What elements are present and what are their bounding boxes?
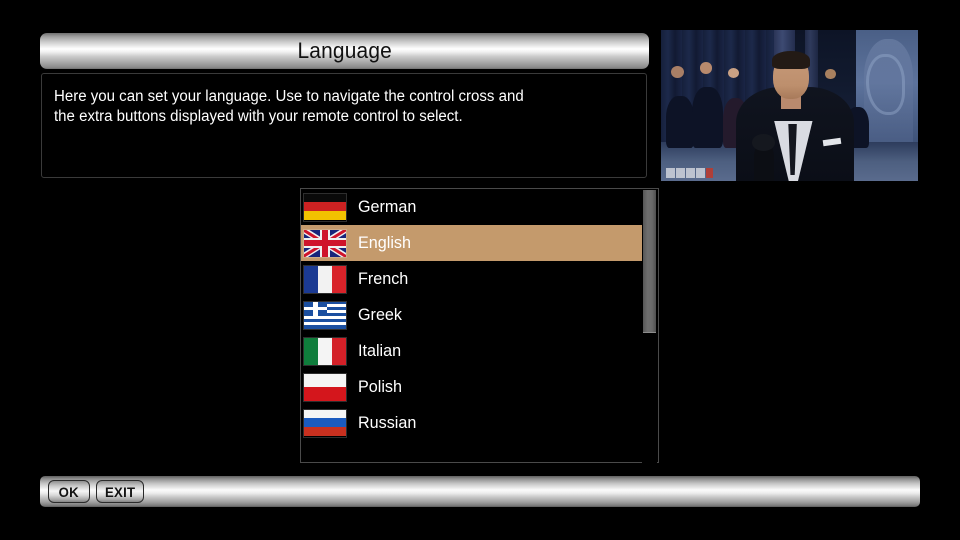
list-item-label: French — [358, 269, 408, 289]
list-item[interactable]: English — [301, 225, 643, 261]
scrollbar-thumb[interactable] — [643, 190, 656, 333]
list-item-label: Russian — [358, 413, 416, 433]
channel-logo-watermark — [666, 168, 713, 179]
flag-greece-icon — [304, 302, 346, 329]
flag-russia-icon — [304, 410, 346, 437]
softkey-bar: OK EXIT — [40, 476, 920, 507]
list-item[interactable]: Polish — [301, 369, 643, 405]
video-crowd-head — [825, 69, 835, 79]
page-title: Language — [297, 38, 392, 64]
exit-button-label: EXIT — [105, 484, 135, 500]
video-crowd-figure — [692, 87, 723, 147]
flag-united-kingdom-icon — [304, 230, 346, 257]
flag-poland-icon — [304, 374, 346, 401]
language-list-items: German English French — [301, 189, 643, 462]
description-text: Here you can set your language. Use to n… — [54, 87, 617, 127]
flag-france-icon — [304, 266, 346, 293]
live-video-preview[interactable] — [661, 30, 918, 181]
list-item-label: Italian — [358, 341, 401, 361]
ok-button-label: OK — [59, 484, 79, 500]
exit-button[interactable]: EXIT — [96, 480, 144, 503]
video-wall-swirl — [866, 54, 905, 114]
language-list[interactable]: German English French — [300, 188, 659, 463]
video-crowd-head — [700, 62, 713, 74]
list-item[interactable]: Greek — [301, 297, 643, 333]
tv-settings-screen: Language Here you can set your language.… — [0, 0, 960, 540]
list-item-label: German — [358, 197, 416, 217]
list-item[interactable]: Italian — [301, 333, 643, 369]
list-item[interactable]: German — [301, 189, 643, 225]
list-item-label: English — [358, 233, 411, 253]
list-item[interactable]: Russian — [301, 405, 643, 441]
list-item[interactable]: French — [301, 261, 643, 297]
list-item-label: Polish — [358, 377, 402, 397]
reporter-hair — [772, 51, 811, 69]
ok-button[interactable]: OK — [48, 480, 90, 503]
reporter-microphone-head — [752, 134, 775, 151]
list-item-label: Greek — [358, 305, 402, 325]
flag-germany-icon — [304, 194, 346, 221]
page-title-bar: Language — [40, 33, 649, 69]
video-crowd-figure — [666, 96, 694, 147]
list-scrollbar[interactable] — [642, 190, 657, 463]
description-panel: Here you can set your language. Use to n… — [41, 73, 647, 178]
flag-italy-icon — [304, 338, 346, 365]
